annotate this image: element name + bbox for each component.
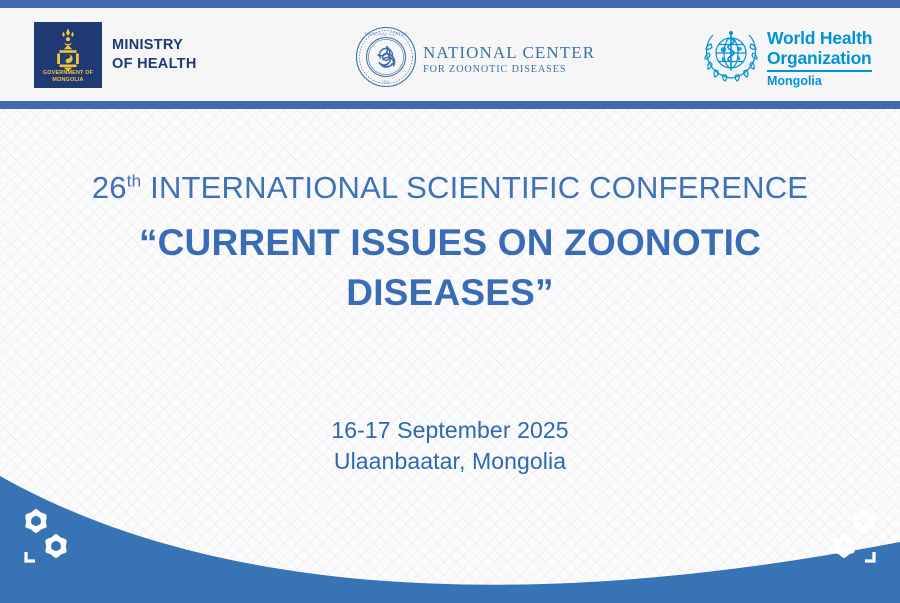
mongolia-government-crest: GOVERNMENT OF MONGOLIA (34, 22, 102, 88)
svg-text:1931: 1931 (382, 80, 390, 85)
wave-band-shape (0, 468, 900, 603)
ministry-of-health-wordmark: MINISTRY OF HEALTH (112, 36, 197, 74)
triquetra-knot-icon-right (818, 502, 884, 573)
who-emblem-icon (702, 26, 760, 87)
national-center-logo: NATIONAL CENTER 1931 (355, 26, 595, 93)
page-title-line3: DISEASES” (0, 268, 900, 318)
event-date: 16-17 September 2025 (0, 415, 900, 446)
zoonotic-seal-icon: NATIONAL CENTER 1931 (355, 26, 417, 93)
ministry-name-line1: MINISTRY (112, 36, 197, 55)
crest-caption-line1: GOVERNMENT OF (34, 70, 102, 77)
triquetra-knot-icon-left (16, 502, 82, 573)
logo-row: GOVERNMENT OF MONGOLIA MINISTRY OF HEALT… (0, 8, 900, 101)
national-center-wordmark: NATIONAL CENTER FOR ZOONOTIC DISEASES (423, 43, 595, 76)
page-title-line2: “CURRENT ISSUES ON ZOONOTIC (0, 218, 900, 268)
who-wordmark: World Health Organization Mongolia (767, 28, 872, 88)
conference-number: 26 (92, 170, 127, 205)
crest-caption-line2: MONGOLIA (34, 77, 102, 84)
svg-text:NATIONAL CENTER: NATIONAL CENTER (365, 32, 408, 37)
top-accent-rule (0, 0, 900, 8)
page-title-line1: 26th INTERNATIONAL SCIENTIFIC CONFERENCE (0, 168, 900, 208)
crest-caption: GOVERNMENT OF MONGOLIA (34, 70, 102, 84)
who-name-line2: Organization (767, 48, 872, 68)
conference-title-slide: GOVERNMENT OF MONGOLIA MINISTRY OF HEALT… (0, 0, 900, 603)
who-name-line1: World Health (767, 28, 872, 48)
header-accent-rule (0, 101, 900, 109)
soyombo-icon (51, 27, 85, 76)
conference-ordinal: th (127, 172, 142, 191)
ministry-name-line2: OF HEALTH (112, 55, 197, 74)
ministry-of-health-logo: GOVERNMENT OF MONGOLIA MINISTRY OF HEALT… (34, 22, 197, 88)
who-logo: World Health Organization Mongolia (702, 26, 872, 88)
national-center-name-line1: NATIONAL CENTER (423, 43, 595, 63)
who-divider (767, 70, 872, 72)
conference-title-rest: INTERNATIONAL SCIENTIFIC CONFERENCE (141, 170, 808, 205)
who-country-label: Mongolia (767, 74, 872, 88)
title-block: 26th INTERNATIONAL SCIENTIFIC CONFERENCE… (0, 168, 900, 318)
national-center-name-line2: FOR ZOONOTIC DISEASES (423, 63, 595, 76)
